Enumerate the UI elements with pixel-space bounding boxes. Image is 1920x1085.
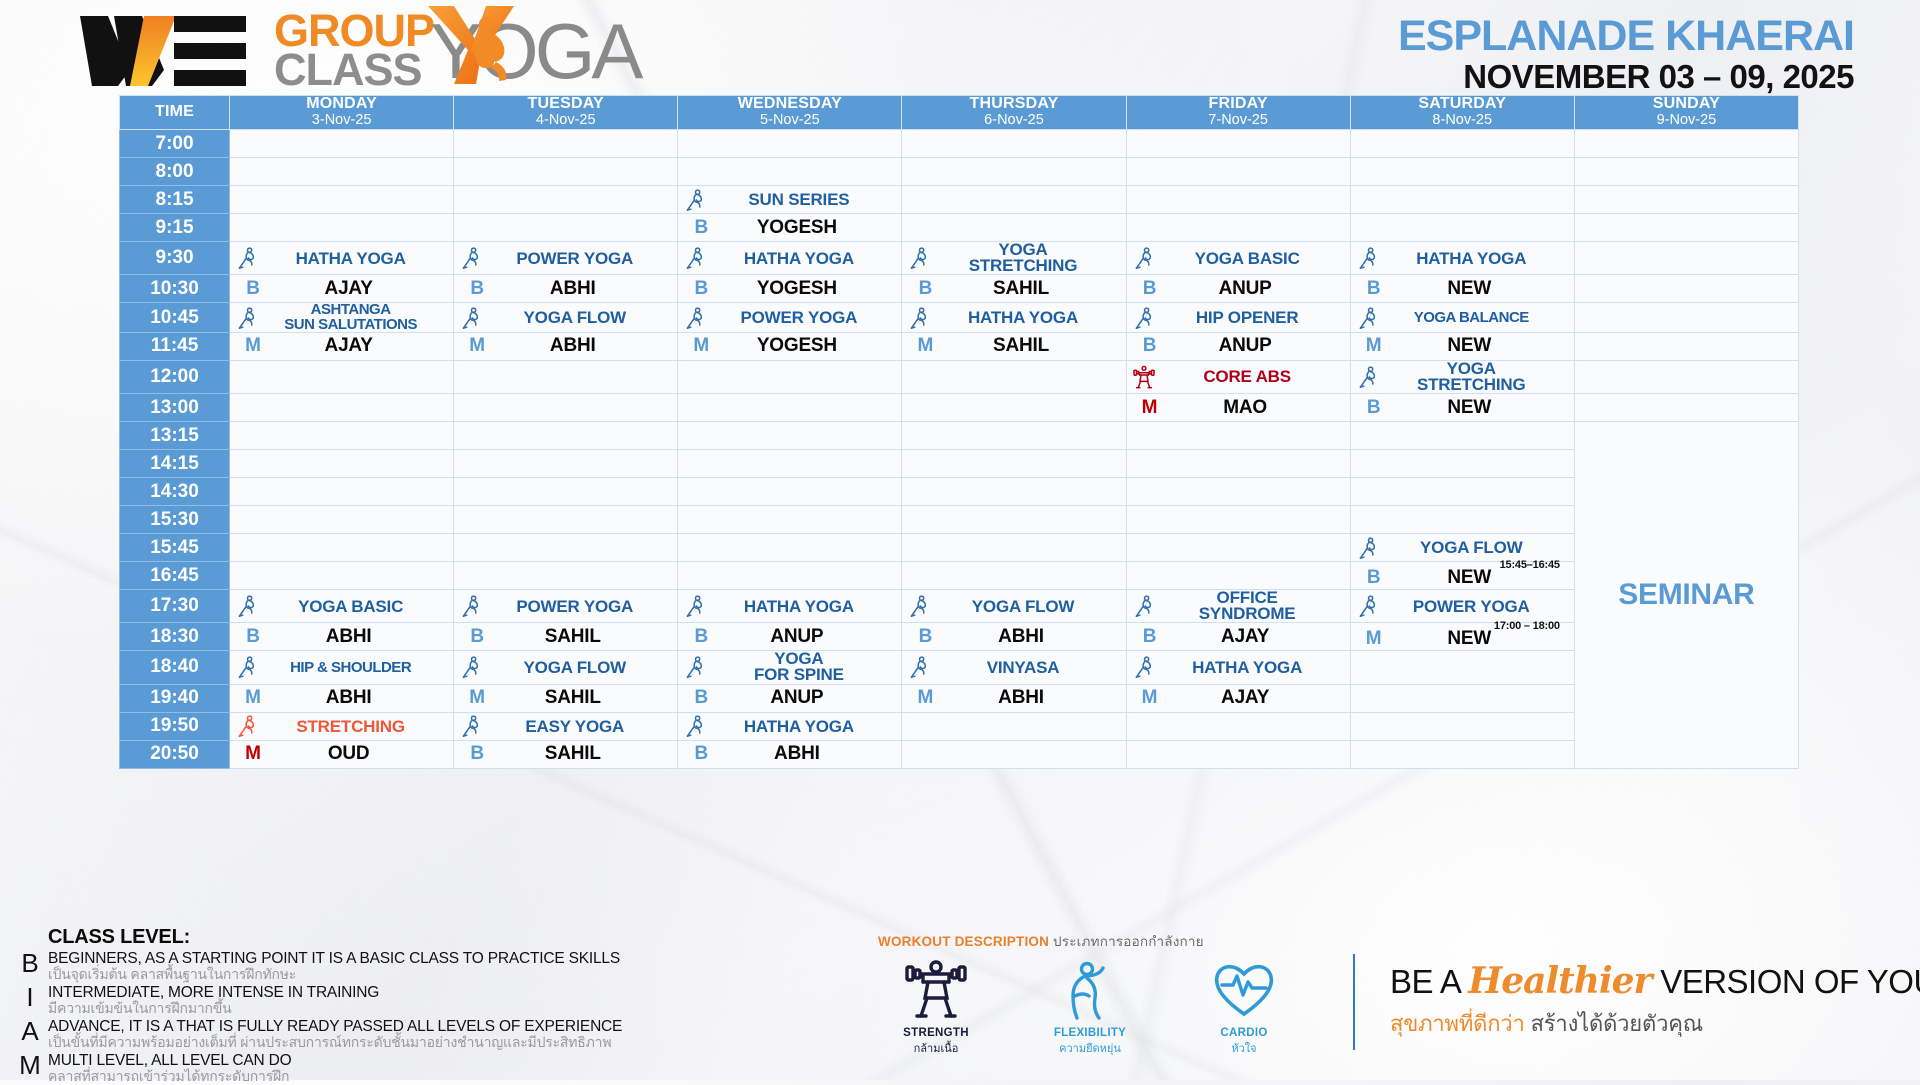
- class-name: YOGA FLOW: [930, 598, 1119, 615]
- schedule-cell[interactable]: POWER YOGA: [454, 590, 678, 623]
- instructor-name: ABHI: [270, 687, 447, 709]
- schedule-cell-empty: [230, 360, 454, 393]
- schedule-row: 9:30HATHA YOGAPOWER YOGAHATHA YOGAYOGAST…: [120, 242, 1799, 275]
- schedule-cell-detail[interactable]: MNEW: [1350, 332, 1574, 360]
- schedule-cell-empty: [230, 130, 454, 158]
- class-level: M: [1133, 687, 1167, 709]
- legend-text-en: INTERMEDIATE, MORE INTENSE IN TRAINING: [48, 984, 379, 1001]
- class-level: B: [1133, 335, 1167, 357]
- schedule-cell-empty: [902, 712, 1126, 740]
- schedule-cell-empty: [454, 214, 678, 242]
- workout-item-flexibility: FLEXIBILITY ความยืดหยุ่น: [1040, 958, 1140, 1057]
- schedule-cell-empty: [678, 534, 902, 562]
- legend-key: B: [12, 950, 48, 977]
- schedule-cell[interactable]: HATHA YOGA: [678, 242, 902, 275]
- class-name: HATHA YOGA: [1155, 659, 1344, 676]
- schedule-cell[interactable]: CORE ABS: [1126, 360, 1350, 393]
- page-footer: CLASS LEVEL: BBEGINNERS, AS A STARTING P…: [0, 936, 1920, 1080]
- legend-text-th: คลาสที่สามารถเข้าร่วมได้ทกระดับการฝึก: [48, 1069, 291, 1085]
- slot-start-time: 14:30: [120, 478, 230, 506]
- schedule-cell[interactable]: HATHA YOGA: [1350, 242, 1574, 275]
- instructor-name: SAHIL: [494, 743, 671, 765]
- schedule-cell-detail[interactable]: BANUP: [678, 623, 902, 651]
- class-level: M: [908, 687, 942, 709]
- schedule-cell-detail[interactable]: MAJAY: [230, 332, 454, 360]
- yoga-icon: [684, 305, 706, 331]
- slot-end-time: 9:15: [120, 214, 230, 242]
- schedule-cell[interactable]: STRETCHING: [230, 712, 454, 740]
- day-date: 4-Nov-25: [454, 113, 677, 129]
- class-name: HATHA YOGA: [258, 250, 447, 267]
- column-header-tuesday: TUESDAY4-Nov-25: [454, 96, 678, 130]
- schedule-cell-empty: [454, 158, 678, 186]
- yoga-icon: [684, 654, 706, 680]
- schedule-cell-empty: [1126, 478, 1350, 506]
- class-level: B: [684, 743, 718, 765]
- slot-end-time: 16:45: [120, 562, 230, 590]
- schedule-cell-detail[interactable]: BNEW: [1350, 275, 1574, 303]
- schedule-cell[interactable]: OFFICESYNDROME: [1126, 590, 1350, 623]
- we-logo-icon: [78, 12, 258, 90]
- slot-start-time: 10:45: [120, 303, 230, 333]
- schedule-cell-detail[interactable]: BABHI: [902, 623, 1126, 651]
- flexibility-icon: [1055, 958, 1125, 1020]
- schedule-cell-empty: [902, 450, 1126, 478]
- schedule-cell-detail[interactable]: BAJAY: [230, 275, 454, 303]
- yoga-icon: [908, 654, 930, 680]
- schedule-cell-detail[interactable]: BANUP: [1126, 332, 1350, 360]
- schedule-cell-empty: [1350, 450, 1574, 478]
- class-level: M: [460, 335, 494, 357]
- schedule-cell-empty: [678, 478, 902, 506]
- slot-start-time: 15:45: [120, 534, 230, 562]
- strength-icon: [1133, 364, 1155, 390]
- day-name: THURSDAY: [902, 96, 1125, 113]
- brand-logo: GROUP CLASS YOGA: [78, 10, 639, 92]
- schedule-cell[interactable]: YOGASTRETCHING: [902, 242, 1126, 275]
- schedule-cell-empty: [1574, 158, 1798, 186]
- legend-key: A: [12, 1018, 48, 1045]
- slot-start-time: 19:50: [120, 712, 230, 740]
- slogan-highlight: Healthier: [1468, 960, 1651, 1002]
- schedule-cell[interactable]: ASHTANGASUN SALUTATIONS: [230, 303, 454, 333]
- slot-end-time: 20:50: [120, 740, 230, 768]
- schedule-cell-empty: [230, 214, 454, 242]
- column-header-saturday: SATURDAY8-Nov-25: [1350, 96, 1574, 130]
- yoga-icon: [460, 713, 482, 739]
- schedule-cell-detail[interactable]: BNEW: [1350, 394, 1574, 422]
- schedule-cell[interactable]: YOGA FLOW: [454, 651, 678, 684]
- class-level: B: [460, 626, 494, 648]
- yoga-icon: [684, 245, 706, 271]
- slot-end-time: 19:40: [120, 684, 230, 712]
- venue-name: ESPLANADE KHAERAI: [1398, 14, 1854, 59]
- schedule-cell-detail[interactable]: BSAHIL: [902, 275, 1126, 303]
- schedule-cell-empty: [902, 562, 1126, 590]
- class-level: B: [908, 626, 942, 648]
- day-name: FRIDAY: [1127, 96, 1350, 113]
- slot-end-time: 11:45: [120, 332, 230, 360]
- yoga-icon-orange: [236, 713, 258, 739]
- schedule-cell-empty: [1350, 651, 1574, 684]
- class-level: M: [236, 743, 270, 765]
- class-level: B: [684, 217, 718, 239]
- flexibility-label-th: ความยืดหยุ่น: [1040, 1039, 1140, 1057]
- instructor-name: ABHI: [270, 626, 447, 648]
- yoga-icon: [1357, 593, 1379, 619]
- schedule-cell[interactable]: POWER YOGA: [678, 303, 902, 333]
- schedule-cell-detail[interactable]: BABHI: [454, 275, 678, 303]
- schedule-cell-empty: [454, 450, 678, 478]
- instructor-name: SAHIL: [494, 687, 671, 709]
- schedule-cell[interactable]: YOGA FLOW: [902, 590, 1126, 623]
- yoga-icon: [460, 654, 482, 680]
- schedule-cell-empty: [1126, 740, 1350, 768]
- column-header-sunday: SUNDAY9-Nov-25: [1574, 96, 1798, 130]
- day-name: SATURDAY: [1351, 96, 1574, 113]
- schedule-row: 13:00MMAOBNEW: [120, 394, 1799, 422]
- schedule-cell-detail[interactable]: BSAHIL: [454, 623, 678, 651]
- flexibility-label-en: FLEXIBILITY: [1040, 1027, 1140, 1039]
- slogan-pre: BE A: [1390, 963, 1460, 1000]
- legend-key: I: [12, 984, 48, 1011]
- schedule-cell-empty: [1126, 422, 1350, 450]
- instructor-name: OUD: [270, 743, 447, 765]
- schedule-row: 10:30BAJAYBABHIBYOGESHBSAHILBANUPBNEW: [120, 275, 1799, 303]
- slot-start-time: 7:00: [120, 130, 230, 158]
- schedule-cell-empty: [230, 534, 454, 562]
- brand-class-label: CLASS: [274, 51, 434, 90]
- instructor-name: ABHI: [942, 626, 1119, 648]
- schedule-cell-empty: [678, 130, 902, 158]
- class-level: B: [460, 278, 494, 300]
- workout-title-th: ประเภทการออกกำลังกาย: [1053, 934, 1204, 949]
- legend-text-th: เป็นจุดเริ่มต้น คลาสพื้นฐานในการฝึกทักษะ: [48, 967, 620, 983]
- schedule-cell-empty: [1126, 186, 1350, 214]
- schedule-cell-empty: [1350, 186, 1574, 214]
- schedule-cell-empty: [1126, 214, 1350, 242]
- schedule-cell-detail[interactable]: BYOGESH: [678, 214, 902, 242]
- day-date: 7-Nov-25: [1127, 113, 1350, 129]
- day-date: 5-Nov-25: [678, 113, 901, 129]
- schedule-row: 12:00CORE ABSYOGASTRETCHING: [120, 360, 1799, 393]
- slot-start-time: 13:15: [120, 422, 230, 450]
- schedule-cell-detail[interactable]: MAJAY: [1126, 684, 1350, 712]
- class-name: VINYASA: [930, 659, 1119, 676]
- legend-row: MMULTI LEVEL, ALL LEVEL CAN DOคลาสที่สาม…: [12, 1052, 772, 1085]
- schedule-cell[interactable]: YOGA BALANCE: [1350, 303, 1574, 333]
- day-date: 3-Nov-25: [230, 113, 453, 129]
- schedule-cell-empty: [902, 422, 1126, 450]
- schedule-cell[interactable]: HATHA YOGA: [678, 712, 902, 740]
- schedule-cell-empty: [1126, 130, 1350, 158]
- day-date: 8-Nov-25: [1351, 113, 1574, 129]
- schedule-row: 13:15SEMINAR: [120, 422, 1799, 450]
- yoga-icon: [908, 593, 930, 619]
- schedule-cell-empty: [1350, 158, 1574, 186]
- workout-description-block: WORKOUT DESCRIPTION ประเภทการออกกำลังกาย: [878, 930, 1338, 1057]
- schedule-cell-detail[interactable]: BABHI: [230, 623, 454, 651]
- schedule-cell[interactable]: HATHA YOGA: [678, 590, 902, 623]
- schedule-cell[interactable]: VINYASA: [902, 651, 1126, 684]
- day-date: 6-Nov-25: [902, 113, 1125, 129]
- class-level-title: CLASS LEVEL:: [48, 926, 772, 949]
- slot-start-time: 17:30: [120, 590, 230, 623]
- schedule-cell-empty: [902, 214, 1126, 242]
- legend-text-en: BEGINNERS, AS A STARTING POINT IT IS A B…: [48, 950, 620, 967]
- yoga-pose-icon: [424, 4, 544, 86]
- venue-date-range: NOVEMBER 03 – 09, 2025: [1398, 59, 1854, 95]
- schedule-cell-empty: [1350, 214, 1574, 242]
- class-name: POWER YOGA: [1379, 598, 1568, 615]
- schedule-cell-detail[interactable]: 15:45–16:45BNEW: [1350, 562, 1574, 590]
- cardio-icon: [1209, 958, 1279, 1020]
- legend-row: BBEGINNERS, AS A STARTING POINT IT IS A …: [12, 950, 772, 983]
- schedule-row: 8:00: [120, 158, 1799, 186]
- schedule-cell[interactable]: HIP OPENER: [1126, 303, 1350, 333]
- class-name: YOGA FLOW: [482, 659, 671, 676]
- schedule-cell-empty: [678, 450, 902, 478]
- schedule-cell[interactable]: HATHA YOGA: [1126, 651, 1350, 684]
- schedule-cell-empty: [902, 360, 1126, 393]
- schedule-cell-detail[interactable]: MOUD: [230, 740, 454, 768]
- day-name: SUNDAY: [1575, 96, 1798, 113]
- schedule-cell-empty: [1126, 506, 1350, 534]
- schedule-row: 7:00: [120, 130, 1799, 158]
- schedule-cell-empty: [1574, 394, 1798, 422]
- schedule-cell[interactable]: SUN SERIES: [678, 186, 902, 214]
- schedule-cell-detail[interactable]: MABHI: [902, 684, 1126, 712]
- yoga-icon: [908, 305, 930, 331]
- class-level: B: [460, 743, 494, 765]
- yoga-icon: [236, 305, 258, 331]
- schedule-cell[interactable]: YOGASTRETCHING: [1350, 360, 1574, 393]
- schedule-cell-detail[interactable]: MABHI: [454, 332, 678, 360]
- class-name: HATHA YOGA: [706, 718, 895, 735]
- class-name: POWER YOGA: [482, 250, 671, 267]
- schedule-cell-empty: [678, 394, 902, 422]
- schedule-body: 7:008:008:15SUN SERIES9:15BYOGESH9:30HAT…: [120, 130, 1799, 769]
- schedule-cell-empty: [1574, 214, 1798, 242]
- schedule-cell-empty: [1574, 275, 1798, 303]
- group-class-text: GROUP CLASS: [274, 12, 434, 89]
- slot-end-time: 18:30: [120, 623, 230, 651]
- class-level: M: [1133, 397, 1167, 419]
- strength-label-th: กล้ามเนื้อ: [886, 1039, 986, 1057]
- instructor-name: NEW: [1391, 628, 1568, 650]
- schedule-cell-empty: [902, 506, 1126, 534]
- schedule-cell-detail[interactable]: MYOGESH: [678, 332, 902, 360]
- schedule-cell-detail[interactable]: MMAO: [1126, 394, 1350, 422]
- schedule-cell-empty: [1574, 332, 1798, 360]
- day-name: MONDAY: [230, 96, 453, 113]
- schedule-cell-detail[interactable]: MSAHIL: [454, 684, 678, 712]
- class-level: B: [684, 687, 718, 709]
- schedule-cell-detail[interactable]: BAJAY: [1126, 623, 1350, 651]
- schedule-cell-detail[interactable]: MSAHIL: [902, 332, 1126, 360]
- schedule-cell-empty: [902, 186, 1126, 214]
- seminar-cell[interactable]: SEMINAR: [1574, 422, 1798, 769]
- legend-text-en: MULTI LEVEL, ALL LEVEL CAN DO: [48, 1052, 291, 1069]
- legend-row: IINTERMEDIATE, MORE INTENSE IN TRAININGม…: [12, 984, 772, 1017]
- schedule-cell-empty: [1350, 740, 1574, 768]
- column-header-wednesday: WEDNESDAY5-Nov-25: [678, 96, 902, 130]
- slot-start-time: 8:15: [120, 186, 230, 214]
- venue-block: ESPLANADE KHAERAI NOVEMBER 03 – 09, 2025: [1398, 14, 1854, 95]
- instructor-name: NEW: [1391, 278, 1568, 300]
- schedule-cell[interactable]: YOGAFOR SPINE: [678, 651, 902, 684]
- schedule-cell[interactable]: YOGA FLOW: [454, 303, 678, 333]
- slogan-post: VERSION OF YOU: [1660, 963, 1920, 1000]
- schedule-row: 10:45ASHTANGASUN SALUTATIONSYOGA FLOWPOW…: [120, 303, 1799, 333]
- schedule-cell-empty: [902, 394, 1126, 422]
- instructor-name: AJAY: [1167, 626, 1344, 648]
- schedule-cell-empty: [454, 130, 678, 158]
- schedule-cell[interactable]: YOGA FLOW: [1350, 534, 1574, 562]
- yoga-icon: [1133, 593, 1155, 619]
- yoga-icon: [460, 593, 482, 619]
- yoga-icon: [684, 593, 706, 619]
- schedule-cell-detail[interactable]: BYOGESH: [678, 275, 902, 303]
- schedule-cell[interactable]: EASY YOGA: [454, 712, 678, 740]
- class-level: M: [908, 335, 942, 357]
- schedule-cell[interactable]: HATHA YOGA: [230, 242, 454, 275]
- yoga-icon: [908, 245, 930, 271]
- slogan-th-orange: สุขภาพที่ดีกว่า: [1390, 1011, 1525, 1036]
- instructor-name: ANUP: [1167, 278, 1344, 300]
- class-name: YOGA BASIC: [258, 598, 447, 615]
- class-name: STRETCHING: [258, 718, 447, 735]
- slot-start-time: 12:00: [120, 360, 230, 393]
- class-level: M: [1357, 335, 1391, 357]
- class-level: B: [684, 278, 718, 300]
- slot-end-time: 14:15: [120, 450, 230, 478]
- class-level: M: [236, 335, 270, 357]
- schedule-cell-empty: [902, 478, 1126, 506]
- class-name: HATHA YOGA: [1379, 250, 1568, 267]
- schedule-cell-empty: [1574, 303, 1798, 333]
- schedule-cell[interactable]: YOGA BASIC: [230, 590, 454, 623]
- column-header-thursday: THURSDAY6-Nov-25: [902, 96, 1126, 130]
- legend-text-th: เป็นขั้นที่มีความพร้อมอย่างเต็มที่ ผ่านป…: [48, 1035, 622, 1051]
- class-name: CORE ABS: [1155, 368, 1344, 385]
- class-name: YOGA FLOW: [1379, 539, 1568, 556]
- schedule-cell-empty: [230, 562, 454, 590]
- class-name: POWER YOGA: [706, 309, 895, 326]
- schedule-cell-empty: [230, 394, 454, 422]
- schedule-cell-empty: [678, 422, 902, 450]
- schedule-cell-empty: [454, 534, 678, 562]
- schedule-row: 19:50STRETCHINGEASY YOGAHATHA YOGA: [120, 712, 1799, 740]
- schedule-row: 18:30BABHIBSAHILBANUPBABHIBAJAY17:00 – 1…: [120, 623, 1799, 651]
- cardio-label-th: หัวใจ: [1194, 1039, 1294, 1057]
- class-level: M: [684, 335, 718, 357]
- schedule-cell[interactable]: HIP & SHOULDER: [230, 651, 454, 684]
- schedule-cell-empty: [678, 158, 902, 186]
- schedule-cell-empty: [1350, 130, 1574, 158]
- schedule-cell-empty: [678, 562, 902, 590]
- class-name: OFFICESYNDROME: [1155, 590, 1344, 622]
- instructor-name: ABHI: [942, 687, 1119, 709]
- instructor-name: ABHI: [494, 278, 671, 300]
- schedule-cell-empty: [902, 130, 1126, 158]
- class-level: M: [1357, 628, 1391, 650]
- instructor-name: NEW: [1391, 335, 1568, 357]
- schedule-cell-empty: [454, 186, 678, 214]
- slogan-block: BE A Healthier VERSION OF YOU สุขภาพที่ด…: [1390, 960, 1890, 1041]
- yoga-icon: [1357, 305, 1379, 331]
- slot-end-time: 13:00: [120, 394, 230, 422]
- instructor-name: ABHI: [494, 335, 671, 357]
- class-level: B: [1357, 397, 1391, 419]
- instructor-name: SAHIL: [494, 626, 671, 648]
- yoga-icon: [236, 654, 258, 680]
- schedule-cell[interactable]: POWER YOGA: [454, 242, 678, 275]
- instructor-name: AJAY: [270, 335, 447, 357]
- schedule-cell-empty: [1126, 712, 1350, 740]
- schedule-cell[interactable]: POWER YOGA: [1350, 590, 1574, 623]
- class-name: YOGA BALANCE: [1379, 310, 1568, 325]
- instructor-name: ANUP: [718, 687, 895, 709]
- yoga-icon: [1357, 535, 1379, 561]
- schedule-cell-empty: [230, 506, 454, 534]
- schedule-cell-empty: [454, 394, 678, 422]
- schedule-cell[interactable]: YOGA BASIC: [1126, 242, 1350, 275]
- schedule-cell-empty: [454, 360, 678, 393]
- class-level: B: [236, 278, 270, 300]
- schedule-cell-empty: [1126, 534, 1350, 562]
- schedule-cell-empty: [230, 186, 454, 214]
- class-level: B: [1133, 278, 1167, 300]
- class-name: YOGASTRETCHING: [930, 242, 1119, 274]
- brand-yoga-wordmark: YOGA: [430, 6, 639, 97]
- column-header-friday: FRIDAY7-Nov-25: [1126, 96, 1350, 130]
- schedule-cell-detail[interactable]: MABHI: [230, 684, 454, 712]
- column-header-monday: MONDAY3-Nov-25: [230, 96, 454, 130]
- workout-description-title: WORKOUT DESCRIPTION ประเภทการออกกำลังกาย: [878, 930, 1338, 952]
- yoga-icon: [1357, 364, 1379, 390]
- day-name: WEDNESDAY: [678, 96, 901, 113]
- schedule-cell-empty: [1126, 450, 1350, 478]
- schedule-cell-empty: [678, 506, 902, 534]
- schedule-cell-detail[interactable]: BABHI: [678, 740, 902, 768]
- class-level: B: [1133, 626, 1167, 648]
- class-level: B: [236, 626, 270, 648]
- schedule-cell-empty: [1350, 684, 1574, 712]
- class-level: B: [1357, 567, 1391, 589]
- schedule-cell-empty: [1574, 130, 1798, 158]
- instructor-name: ANUP: [718, 626, 895, 648]
- schedule-row: 19:40MABHIMSAHILBANUPMABHIMAJAY: [120, 684, 1799, 712]
- schedule-cell-empty: [454, 562, 678, 590]
- schedule-header-row: TIME MONDAY3-Nov-25TUESDAY4-Nov-25WEDNES…: [120, 96, 1799, 130]
- schedule-cell-detail[interactable]: BSAHIL: [454, 740, 678, 768]
- class-name: YOGA BASIC: [1155, 250, 1344, 267]
- schedule-cell-detail[interactable]: BANUP: [1126, 275, 1350, 303]
- schedule-cell-empty: [902, 534, 1126, 562]
- schedule-cell-empty: [230, 450, 454, 478]
- class-name: HATHA YOGA: [706, 250, 895, 267]
- schedule-cell[interactable]: HATHA YOGA: [902, 303, 1126, 333]
- schedule-cell-empty: [902, 158, 1126, 186]
- instructor-name: SAHIL: [942, 335, 1119, 357]
- yoga-icon: [460, 305, 482, 331]
- schedule-cell-detail[interactable]: 17:00 – 18:00MNEW: [1350, 623, 1574, 651]
- yoga-icon: [684, 187, 706, 213]
- schedule-cell-detail[interactable]: BANUP: [678, 684, 902, 712]
- schedule-table: TIME MONDAY3-Nov-25TUESDAY4-Nov-25WEDNES…: [119, 95, 1799, 769]
- yoga-icon: [684, 713, 706, 739]
